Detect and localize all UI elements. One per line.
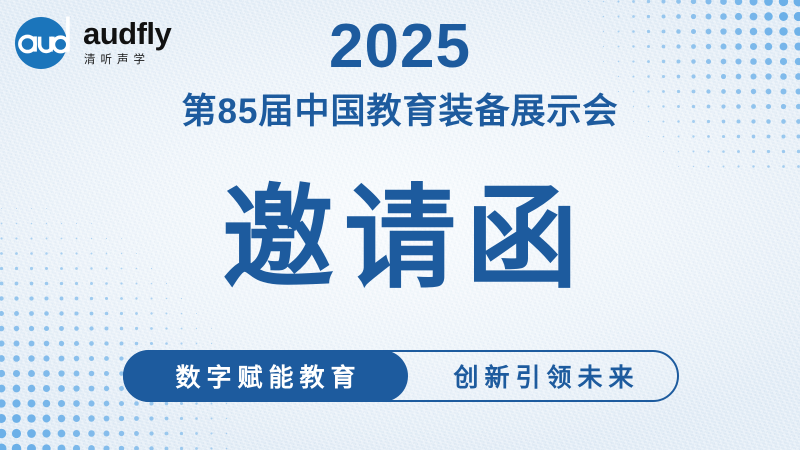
invitation-poster: audfly 清听声学 2025 第85届中国教育装备展示会 邀请函 数字赋能教… bbox=[0, 0, 800, 450]
slogan-text-right: 创新引领未来 bbox=[408, 350, 679, 402]
event-year: 2025 bbox=[0, 16, 800, 78]
slogan-text-left: 数字赋能教育 bbox=[123, 350, 408, 402]
headline-block: 2025 第85届中国教育装备展示会 bbox=[0, 16, 800, 132]
slogan-banner: 数字赋能教育 创新引领未来 bbox=[123, 350, 679, 402]
page-title: 邀请函 bbox=[0, 183, 800, 295]
event-name: 第85届中国教育装备展示会 bbox=[0, 92, 800, 132]
